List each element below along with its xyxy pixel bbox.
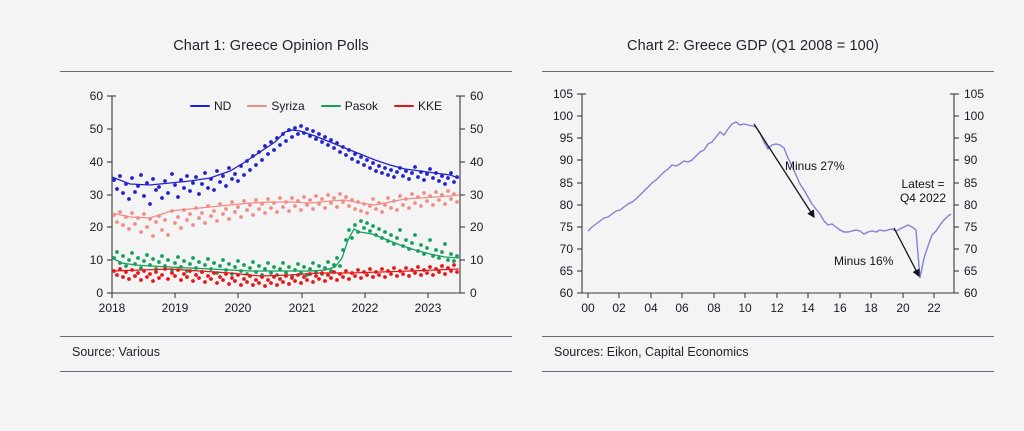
chart-2-title: Chart 2: Greece GDP (Q1 2008 = 100) [512,38,994,54]
svg-text:08: 08 [707,301,721,315]
chart-2-source: Sources: Eikon, Capital Economics [554,345,749,359]
chart-2-rule-bottom [542,371,994,372]
svg-text:2019: 2019 [162,301,189,315]
chart-1-svg: 01020 30405060 01020 30405060 [60,80,512,320]
svg-text:20: 20 [90,220,104,234]
svg-text:02: 02 [612,301,626,315]
svg-text:80: 80 [964,198,978,212]
legend-swatch-nd [190,105,210,107]
legend-label-syriza: Syriza [271,99,304,113]
svg-text:70: 70 [964,242,978,256]
svg-text:95: 95 [560,131,574,145]
chart-panel-2: Chart 2: Greece GDP (Q1 2008 = 100) [512,0,994,380]
legend-swatch-syriza [247,105,267,107]
svg-text:90: 90 [560,153,574,167]
svg-text:12: 12 [770,301,784,315]
legend-item-kke: KKE [394,99,442,113]
svg-text:95: 95 [964,131,978,145]
svg-text:10: 10 [738,301,752,315]
chart-1-plot: 01020 30405060 01020 30405060 [60,80,512,320]
svg-text:85: 85 [560,176,574,190]
chart-1-rule-mid [60,336,512,337]
svg-text:20: 20 [470,220,484,234]
svg-text:60: 60 [90,89,104,103]
legend-label-nd: ND [214,99,231,113]
svg-text:65: 65 [560,264,574,278]
chart-1-rule-bottom [60,371,512,372]
svg-text:16: 16 [833,301,847,315]
svg-text:40: 40 [90,155,104,169]
svg-text:2022: 2022 [352,301,379,315]
chart-2-svg: 606570 758085 9095100105 606570 758085 9… [542,80,994,320]
svg-text:20: 20 [896,301,910,315]
svg-text:90: 90 [964,153,978,167]
legend-item-syriza: Syriza [247,99,304,113]
annot-minus-16-label: Minus 16% [834,254,894,268]
svg-text:30: 30 [470,188,484,202]
svg-text:65: 65 [964,264,978,278]
svg-text:80: 80 [560,198,574,212]
svg-text:14: 14 [801,301,815,315]
chart-2-plot: 606570 758085 9095100105 606570 758085 9… [542,80,994,320]
chart-1-rule-top [60,71,512,72]
svg-text:60: 60 [560,286,574,300]
svg-text:18: 18 [864,301,878,315]
svg-text:50: 50 [90,122,104,136]
chart-panel-1: Chart 1: Greece Opinion Polls [30,0,512,380]
svg-text:85: 85 [964,176,978,190]
svg-text:75: 75 [560,220,574,234]
svg-text:0: 0 [470,286,477,300]
svg-text:70: 70 [560,242,574,256]
chart-2-rule-top [542,71,994,72]
legend-item-pasok: Pasok [321,99,378,113]
legend-swatch-pasok [321,105,341,107]
svg-text:60: 60 [964,286,978,300]
annot-latest-label-line1: Latest = [901,177,944,191]
svg-text:60: 60 [470,89,484,103]
svg-text:00: 00 [581,301,595,315]
svg-text:22: 22 [927,301,941,315]
svg-text:10: 10 [470,253,484,267]
svg-text:100: 100 [964,109,984,123]
svg-text:75: 75 [964,220,978,234]
legend-label-kke: KKE [418,99,442,113]
svg-text:0: 0 [96,286,103,300]
svg-text:2021: 2021 [289,301,316,315]
chart-1-source: Source: Various [72,345,160,359]
svg-text:10: 10 [90,253,104,267]
chart-1-legend: ND Syriza Pasok KKE [190,99,442,113]
svg-text:04: 04 [644,301,658,315]
screenshot-root: Chart 1: Greece Opinion Polls [0,0,1024,431]
svg-text:30: 30 [90,188,104,202]
legend-swatch-kke [394,105,414,107]
legend-item-nd: ND [190,99,231,113]
svg-text:50: 50 [470,122,484,136]
svg-text:105: 105 [964,87,984,101]
annot-minus-27-label: Minus 27% [785,159,845,173]
legend-label-pasok: Pasok [345,99,378,113]
chart-1-title: Chart 1: Greece Opinion Polls [30,38,512,54]
svg-text:06: 06 [675,301,689,315]
svg-text:100: 100 [553,109,573,123]
chart-2-rule-mid [542,336,994,337]
svg-text:2020: 2020 [225,301,252,315]
svg-text:2023: 2023 [415,301,442,315]
svg-text:2018: 2018 [99,301,126,315]
svg-text:40: 40 [470,155,484,169]
svg-text:105: 105 [553,87,573,101]
annot-latest-label-line2: Q4 2022 [900,191,946,205]
